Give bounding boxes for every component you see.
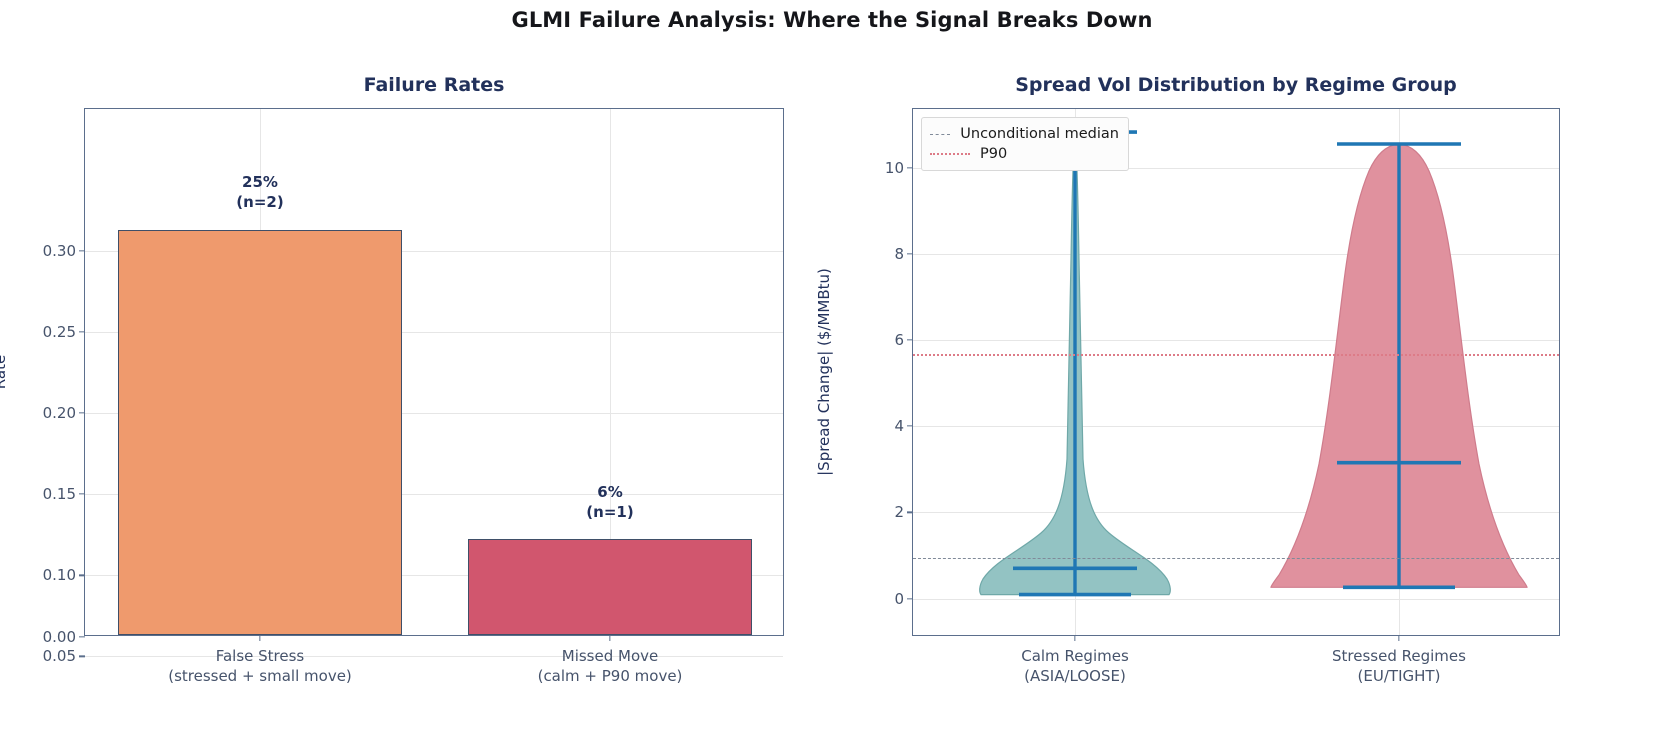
legend-entry-p90: P90 — [930, 144, 1119, 164]
bar-false-stress[interactable] — [118, 230, 402, 636]
panel-spread-vol-distribution: Spread Vol Distribution by Regime Group … — [912, 108, 1560, 636]
xtick-label-missed-move: Missed Move (calm + P90 move) — [538, 647, 683, 687]
ytickmark-010 — [79, 575, 85, 576]
ytick-label-020: 0.20 — [43, 404, 76, 422]
xtickmark-false-stress — [259, 635, 260, 641]
bar-annotation-pct-false-stress: 25% — [236, 173, 283, 193]
xtick-label-calm-regimes: Calm Regimes (ASIA/LOOSE) — [1021, 647, 1129, 687]
ytick-label-015: 0.15 — [43, 485, 76, 503]
reference-line-unconditional-median — [913, 558, 1559, 559]
xtick-line1-calm-regimes: Calm Regimes — [1021, 647, 1129, 667]
axes-spread-vol: 10 8 6 4 2 0 — [912, 108, 1560, 636]
xtick-label-stressed-regimes: Stressed Regimes (EU/TIGHT) — [1332, 647, 1466, 687]
panel-title-spread-vol: Spread Vol Distribution by Regime Group — [912, 74, 1560, 96]
legend-key-dashed-icon — [930, 134, 950, 135]
ytick-label-4: 4 — [894, 417, 904, 435]
xtick-line2-calm-regimes: (ASIA/LOOSE) — [1021, 667, 1129, 687]
xtickmark-missed-move — [609, 635, 610, 641]
bar-annotation-n-false-stress: (n=2) — [236, 193, 283, 213]
ytick-label-0: 0 — [894, 590, 904, 608]
ylabel-spread-vol: |Spread Change| ($/MMBtu) — [815, 268, 833, 476]
legend-entry-unconditional-median: Unconditional median — [930, 124, 1119, 144]
ytickmark-030 — [79, 250, 85, 251]
xtickmark-stressed-regimes — [1398, 635, 1399, 641]
xtick-line2-false-stress: (stressed + small move) — [168, 667, 352, 687]
bar-annotation-pct-missed-move: 6% — [586, 483, 633, 503]
ytickmark-015 — [79, 494, 85, 495]
xtickmark-calm-regimes — [1074, 635, 1075, 641]
legend-label-unconditional-median: Unconditional median — [960, 126, 1119, 142]
xtick-line1-stressed-regimes: Stressed Regimes — [1332, 647, 1466, 667]
panel-failure-rates: Failure Rates 0.30 0.25 0.20 0.15 0.10 0… — [84, 108, 784, 636]
panel-title-failure-rates: Failure Rates — [84, 74, 784, 96]
xtick-label-false-stress: False Stress (stressed + small move) — [168, 647, 352, 687]
reference-line-p90 — [913, 354, 1559, 356]
xtick-line2-stressed-regimes: (EU/TIGHT) — [1332, 667, 1466, 687]
ylabel-failure-rates: Rate — [0, 355, 9, 389]
ytickmark-005 — [79, 656, 85, 657]
figure-suptitle: GLMI Failure Analysis: Where the Signal … — [0, 8, 1664, 32]
xtick-line1-missed-move: Missed Move — [538, 647, 683, 667]
bar-annotation-n-missed-move: (n=1) — [586, 503, 633, 523]
ytickmark-000 — [79, 636, 85, 637]
ytick-label-6: 6 — [894, 331, 904, 349]
legend-label-p90: P90 — [980, 146, 1007, 162]
xtick-line2-missed-move: (calm + P90 move) — [538, 667, 683, 687]
ytickmark-020 — [79, 412, 85, 413]
ytick-label-10: 10 — [885, 159, 904, 177]
ytickmark-025 — [79, 331, 85, 332]
legend-key-dotted-icon — [930, 153, 970, 155]
bar-missed-move[interactable] — [468, 539, 752, 635]
ytick-label-2: 2 — [894, 503, 904, 521]
ytick-label-8: 8 — [894, 245, 904, 263]
legend-spread-vol: Unconditional median P90 — [921, 117, 1129, 171]
ytick-label-010: 0.10 — [43, 566, 76, 584]
bar-annotation-missed-move: 6% (n=1) — [586, 483, 633, 523]
ytick-label-005: 0.05 — [43, 647, 76, 665]
ytick-label-030: 0.30 — [43, 242, 76, 260]
xtick-line1-false-stress: False Stress — [168, 647, 352, 667]
axes-failure-rates: 0.30 0.25 0.20 0.15 0.10 0.05 0.00 25% (… — [84, 108, 784, 636]
ytick-label-000: 0.00 — [43, 628, 76, 646]
ytick-label-025: 0.25 — [43, 323, 76, 341]
bar-annotation-false-stress: 25% (n=2) — [236, 173, 283, 213]
